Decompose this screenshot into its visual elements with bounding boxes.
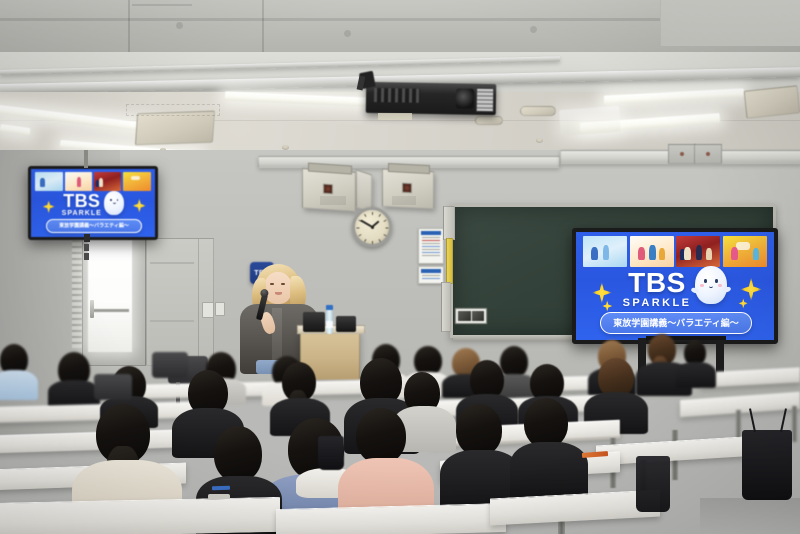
- sparkle-mascot: [104, 191, 124, 215]
- screen-control-box-1: [668, 144, 696, 164]
- eraser[interactable]: [208, 494, 230, 499]
- left-monitor-hanger: [84, 150, 88, 168]
- slide-right: TBS SPARKLE 東放学園講義〜バラエティ編〜: [576, 232, 774, 340]
- slab-joint-2: [262, 0, 264, 58]
- thumbnail-comedy-yellow: [723, 236, 767, 266]
- vent-frame: [126, 104, 220, 116]
- wall-monitor-right[interactable]: TBS SPARKLE 東放学園講義〜バラエティ編〜: [572, 228, 778, 344]
- left-monitor-mount: [84, 234, 90, 242]
- water-bottle[interactable]: [326, 310, 333, 334]
- notice-line-blue: [422, 252, 440, 254]
- presenter-eye-right: [281, 283, 285, 285]
- slide-subtitle-pill-left: 東放学園講義〜バラエティ編〜: [46, 219, 142, 233]
- slide-thumbnail-strip: [583, 236, 767, 266]
- notice-line: [422, 237, 440, 239]
- slide-subtitle-pill: 東放学園講義〜バラエティ編〜: [600, 312, 752, 333]
- presenter-jacket-placket: [272, 308, 282, 364]
- presenter-mouth: [275, 292, 282, 295]
- ceiling-duct-corner: [660, 0, 800, 46]
- speaker-bracket-right: [388, 163, 430, 174]
- board-posted-card: [455, 308, 487, 324]
- wall-mark-left: [320, 196, 346, 205]
- ac-vent-small-2: [475, 116, 503, 125]
- slab-tie-hole-2: [344, 30, 351, 37]
- bag-small[interactable]: [318, 436, 344, 470]
- perforated-strip: [72, 236, 82, 348]
- slab-tie-hole-3: [530, 26, 537, 33]
- card-photo-1: [458, 311, 471, 321]
- thumbnail-anime-blue: [583, 236, 627, 266]
- clock-center-pin: [371, 226, 374, 229]
- notice-line: [422, 275, 440, 277]
- slab-joint-1: [128, 0, 130, 58]
- slide-left: TBS SPARKLE 東放学園講義〜バラエティ編〜: [31, 169, 155, 237]
- speaker-cone-right: [402, 183, 412, 194]
- thumbnail-group-photo: [676, 236, 720, 266]
- student-body-f9: [676, 362, 716, 388]
- ac-vent-small-1: [520, 106, 556, 116]
- wall-mark-right: [392, 196, 416, 205]
- screen-control-box-2: [694, 144, 722, 164]
- door-glass-panel: [88, 240, 132, 352]
- lectern-control-unit-right[interactable]: [336, 316, 356, 332]
- notice-header: [421, 231, 441, 235]
- wall-speaker-left: [302, 168, 356, 212]
- bag-center[interactable]: [636, 456, 670, 512]
- thumbnail-variety-cast: [65, 172, 92, 191]
- student-body-b6: [510, 442, 588, 498]
- speaker-bracket-left: [308, 163, 352, 175]
- board-yellow-strip: [446, 238, 453, 284]
- wall-clock: [352, 207, 392, 247]
- student-head-b5: [456, 404, 502, 456]
- projector-control-panel: [374, 88, 420, 103]
- door-handle[interactable]: [90, 300, 94, 318]
- board-rail-bottom: [441, 282, 451, 332]
- wall-monitor-left[interactable]: TBS SPARKLE 東放学園講義〜バラエティ編〜: [28, 166, 158, 240]
- wall-panel-seam-1: [150, 262, 194, 264]
- slide-brand-row: TBS SPARKLE: [576, 271, 774, 308]
- wall-panel-seam-2: [150, 320, 194, 322]
- slide-subtitle-text: 東放学園講義〜バラエティ編〜: [613, 316, 738, 329]
- left-monitor-pole-seg-2: [84, 253, 89, 260]
- floor-shadow-right: [700, 498, 800, 534]
- aisle-chair-2[interactable]: [94, 374, 132, 400]
- slide-brand-row-left: TBS SPARKLE: [31, 193, 155, 216]
- tote-bag-right[interactable]: [742, 430, 792, 500]
- outlet-plate[interactable]: [215, 302, 225, 316]
- bottle-cap: [326, 305, 333, 310]
- bottle-label: [326, 321, 333, 328]
- slide-brand-sub: SPARKLE: [623, 297, 692, 309]
- student-head-b3: [356, 408, 406, 464]
- projector-vent-grill: [476, 88, 494, 112]
- classroom-photo: TBS SPARKLE 東放学園講義〜バラエティ編〜: [0, 0, 800, 534]
- speaker-cone-left: [323, 183, 333, 194]
- notice-line-blue: [422, 246, 440, 248]
- door-glass-bar: [91, 309, 130, 312]
- slide-subtitle-text: 東放学園講義〜バラエティ編〜: [59, 222, 129, 229]
- notice-line-blue: [422, 278, 440, 280]
- projector-ceiling-plate: [378, 113, 412, 120]
- desk-row-front-left: [0, 497, 280, 534]
- slab-line: [132, 4, 192, 6]
- light-switch-plate[interactable]: [202, 302, 214, 318]
- notice-line: [422, 243, 440, 245]
- notice-line: [422, 255, 440, 257]
- slab-tie-hole-1: [176, 22, 183, 29]
- thumbnail-group-photo: [94, 172, 121, 191]
- thumbnail-variety-cast: [630, 236, 674, 266]
- projector-lens: [456, 88, 474, 108]
- slide-brand-main: TBS: [628, 270, 686, 296]
- card-photo-2: [472, 311, 485, 321]
- notice-line-red: [422, 240, 440, 242]
- notice-sheet-upper: [418, 228, 444, 264]
- board-rail-top: [443, 206, 455, 240]
- lectern-control-unit-left[interactable]: [303, 312, 325, 332]
- notice-header: [421, 269, 441, 273]
- pen-blue[interactable]: [212, 486, 230, 491]
- desk-row-front-right: [276, 503, 506, 534]
- student-head-b6: [524, 398, 568, 448]
- thumbnail-anime-blue: [35, 172, 62, 191]
- sparkle-mascot: [695, 266, 727, 304]
- desk-leg-r2: [792, 406, 797, 442]
- ceiling-projector: [366, 82, 497, 115]
- aisle-chair-1[interactable]: [152, 352, 188, 378]
- ceiling-light-housing: [559, 106, 621, 136]
- student-body-f10: [0, 370, 38, 400]
- slide-thumbnail-strip-left: [35, 172, 150, 191]
- presenter-face: [264, 272, 292, 304]
- student-head-b4: [214, 426, 262, 482]
- slide-brand-sub: SPARKLE: [62, 210, 102, 217]
- presenter-eye-left: [270, 283, 274, 285]
- slide-brand-main: TBS: [63, 193, 100, 210]
- wall-panel-center: [146, 238, 200, 366]
- ac-vent-right: [744, 85, 800, 118]
- sprinkler-head-2: [536, 138, 543, 143]
- thumbnail-comedy-yellow: [123, 172, 150, 191]
- left-monitor-pole-seg-1: [84, 244, 89, 251]
- notice-line: [422, 249, 440, 251]
